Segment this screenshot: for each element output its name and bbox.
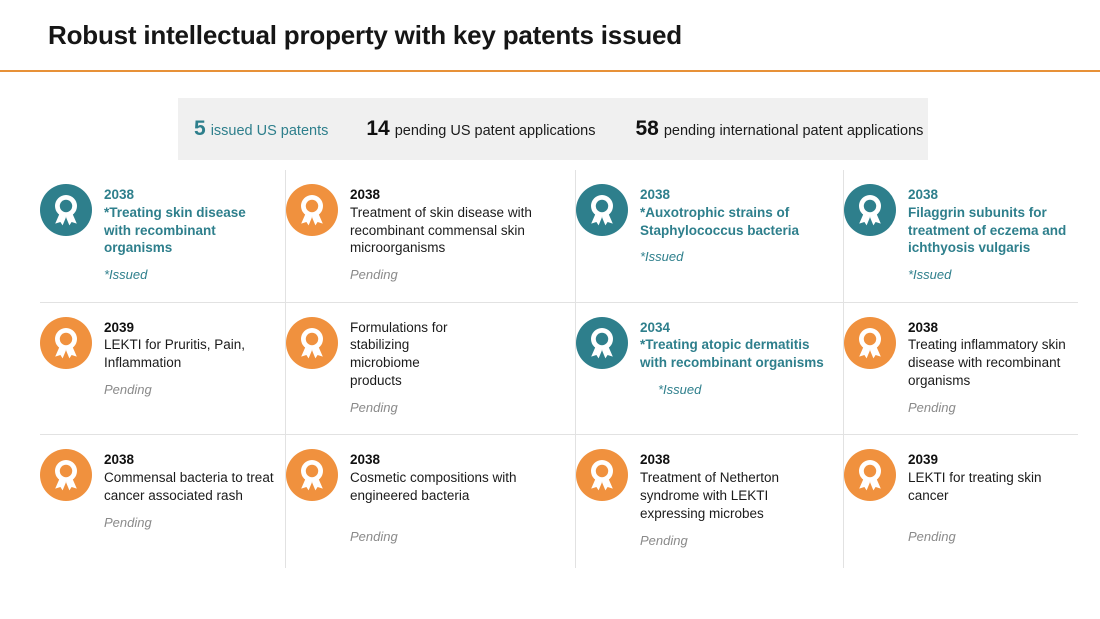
patent-description: LEKTI for treating skin cancer bbox=[908, 469, 1068, 505]
patent-description: *Treating atopic dermatitis with recombi… bbox=[640, 336, 833, 372]
patent-grid: 2038 *Treating skin disease with recombi… bbox=[40, 170, 1078, 568]
stat-issued-us-patents: 5 issued US patents bbox=[194, 117, 328, 141]
patent-status: Pending bbox=[350, 267, 565, 284]
patent-card-body: 2038 Filaggrin subunits for treatment of… bbox=[908, 184, 1068, 284]
patent-card: 2038 Treatment of Netherton syndrome wit… bbox=[576, 435, 844, 568]
patent-description: Cosmetic compositions with engineered ba… bbox=[350, 469, 565, 505]
patent-description: Treatment of skin disease with recombina… bbox=[350, 204, 565, 257]
page-title: Robust intellectual property with key pa… bbox=[48, 20, 682, 51]
patent-card: 2038 Treating inflammatory skin disease … bbox=[844, 303, 1078, 436]
award-ribbon-icon bbox=[844, 184, 896, 236]
patent-card-body: 2038 Commensal bacteria to treat cancer … bbox=[104, 449, 275, 531]
patent-description: Treatment of Netherton syndrome with LEK… bbox=[640, 469, 833, 522]
patent-year: 2038 bbox=[350, 451, 565, 469]
patent-year: 2038 bbox=[908, 186, 1068, 204]
stat-number: 5 bbox=[194, 117, 206, 141]
patent-year: 2038 bbox=[640, 186, 833, 204]
award-ribbon-icon bbox=[40, 317, 92, 369]
patent-card: 2034 *Treating atopic dermatitis with re… bbox=[576, 303, 844, 436]
patent-card-body: 2039 LEKTI for Pruritis, Pain, Inflammat… bbox=[104, 317, 275, 399]
patent-year: 2039 bbox=[908, 451, 1068, 469]
award-ribbon-icon bbox=[40, 184, 92, 236]
patent-card-body: 2034 *Treating atopic dermatitis with re… bbox=[640, 317, 833, 399]
slide: Robust intellectual property with key pa… bbox=[0, 0, 1100, 619]
patent-card: Formulations for stabilizing microbiome … bbox=[286, 303, 576, 436]
patent-status: Pending bbox=[104, 382, 275, 399]
stat-pending-international-applications: 58 pending international patent applicat… bbox=[635, 117, 923, 141]
patent-status: Pending bbox=[640, 533, 833, 550]
patent-card-body: 2039 LEKTI for treating skin cancer Pend… bbox=[908, 449, 1068, 545]
patent-year: 2038 bbox=[640, 451, 833, 469]
patent-description: Filaggrin subunits for treatment of ecze… bbox=[908, 204, 1068, 257]
title-divider bbox=[0, 70, 1100, 72]
award-ribbon-icon bbox=[286, 317, 338, 369]
patent-year: 2039 bbox=[104, 319, 275, 337]
patent-status: Pending bbox=[104, 515, 275, 532]
stat-label: pending international patent application… bbox=[664, 123, 924, 139]
patent-card: 2038 Cosmetic compositions with engineer… bbox=[286, 435, 576, 568]
patent-card-body: 2038 Treatment of Netherton syndrome wit… bbox=[640, 449, 833, 549]
patent-description: *Treating skin disease with recombinant … bbox=[104, 204, 275, 257]
patent-card-body: 2038 Cosmetic compositions with engineer… bbox=[350, 449, 565, 545]
patent-description: Commensal bacteria to treat cancer assoc… bbox=[104, 469, 275, 505]
stat-label: issued US patents bbox=[211, 123, 329, 139]
patent-card: 2039 LEKTI for treating skin cancer Pend… bbox=[844, 435, 1078, 568]
stat-number: 58 bbox=[635, 117, 658, 141]
patent-card: 2038 *Treating skin disease with recombi… bbox=[40, 170, 286, 303]
stat-label: pending US patent applications bbox=[395, 123, 596, 139]
patent-card: 2038 Treatment of skin disease with reco… bbox=[286, 170, 576, 303]
award-ribbon-icon bbox=[576, 184, 628, 236]
patent-card-body: Formulations for stabilizing microbiome … bbox=[350, 317, 470, 417]
award-ribbon-icon bbox=[576, 449, 628, 501]
patent-year: 2038 bbox=[350, 186, 565, 204]
patent-description: Formulations for stabilizing microbiome … bbox=[350, 319, 470, 390]
patent-year: 2038 bbox=[908, 319, 1068, 337]
patent-status: Pending bbox=[908, 400, 1068, 417]
patent-status: *Issued bbox=[908, 267, 1068, 284]
stat-number: 14 bbox=[366, 117, 389, 141]
patent-card-body: 2038 *Auxotrophic strains of Staphylococ… bbox=[640, 184, 833, 266]
award-ribbon-icon bbox=[286, 449, 338, 501]
patent-status: *Issued bbox=[658, 382, 833, 399]
patent-description: LEKTI for Pruritis, Pain, Inflammation bbox=[104, 336, 275, 372]
award-ribbon-icon bbox=[844, 317, 896, 369]
patent-card: 2038 *Auxotrophic strains of Staphylococ… bbox=[576, 170, 844, 303]
patent-status: Pending bbox=[908, 529, 1068, 546]
patent-status: *Issued bbox=[104, 267, 275, 284]
patent-year: 2034 bbox=[640, 319, 833, 337]
patent-card: 2038 Commensal bacteria to treat cancer … bbox=[40, 435, 286, 568]
patent-description: Treating inflammatory skin disease with … bbox=[908, 336, 1068, 389]
award-ribbon-icon bbox=[286, 184, 338, 236]
patent-status: Pending bbox=[350, 529, 565, 546]
stats-banner: 5 issued US patents 14 pending US patent… bbox=[178, 98, 928, 160]
patent-card: 2038 Filaggrin subunits for treatment of… bbox=[844, 170, 1078, 303]
footer: azitra 25 bbox=[0, 575, 1100, 619]
patent-year: 2038 bbox=[104, 451, 275, 469]
patent-description: *Auxotrophic strains of Staphylococcus b… bbox=[640, 204, 833, 240]
award-ribbon-icon bbox=[576, 317, 628, 369]
patent-card-body: 2038 Treatment of skin disease with reco… bbox=[350, 184, 565, 284]
stat-pending-us-applications: 14 pending US patent applications bbox=[366, 117, 595, 141]
patent-year: 2038 bbox=[104, 186, 275, 204]
award-ribbon-icon bbox=[844, 449, 896, 501]
patent-status: *Issued bbox=[640, 249, 833, 266]
patent-card-body: 2038 *Treating skin disease with recombi… bbox=[104, 184, 275, 284]
patent-status: Pending bbox=[350, 400, 470, 417]
award-ribbon-icon bbox=[40, 449, 92, 501]
patent-card: 2039 LEKTI for Pruritis, Pain, Inflammat… bbox=[40, 303, 286, 436]
patent-card-body: 2038 Treating inflammatory skin disease … bbox=[908, 317, 1068, 417]
